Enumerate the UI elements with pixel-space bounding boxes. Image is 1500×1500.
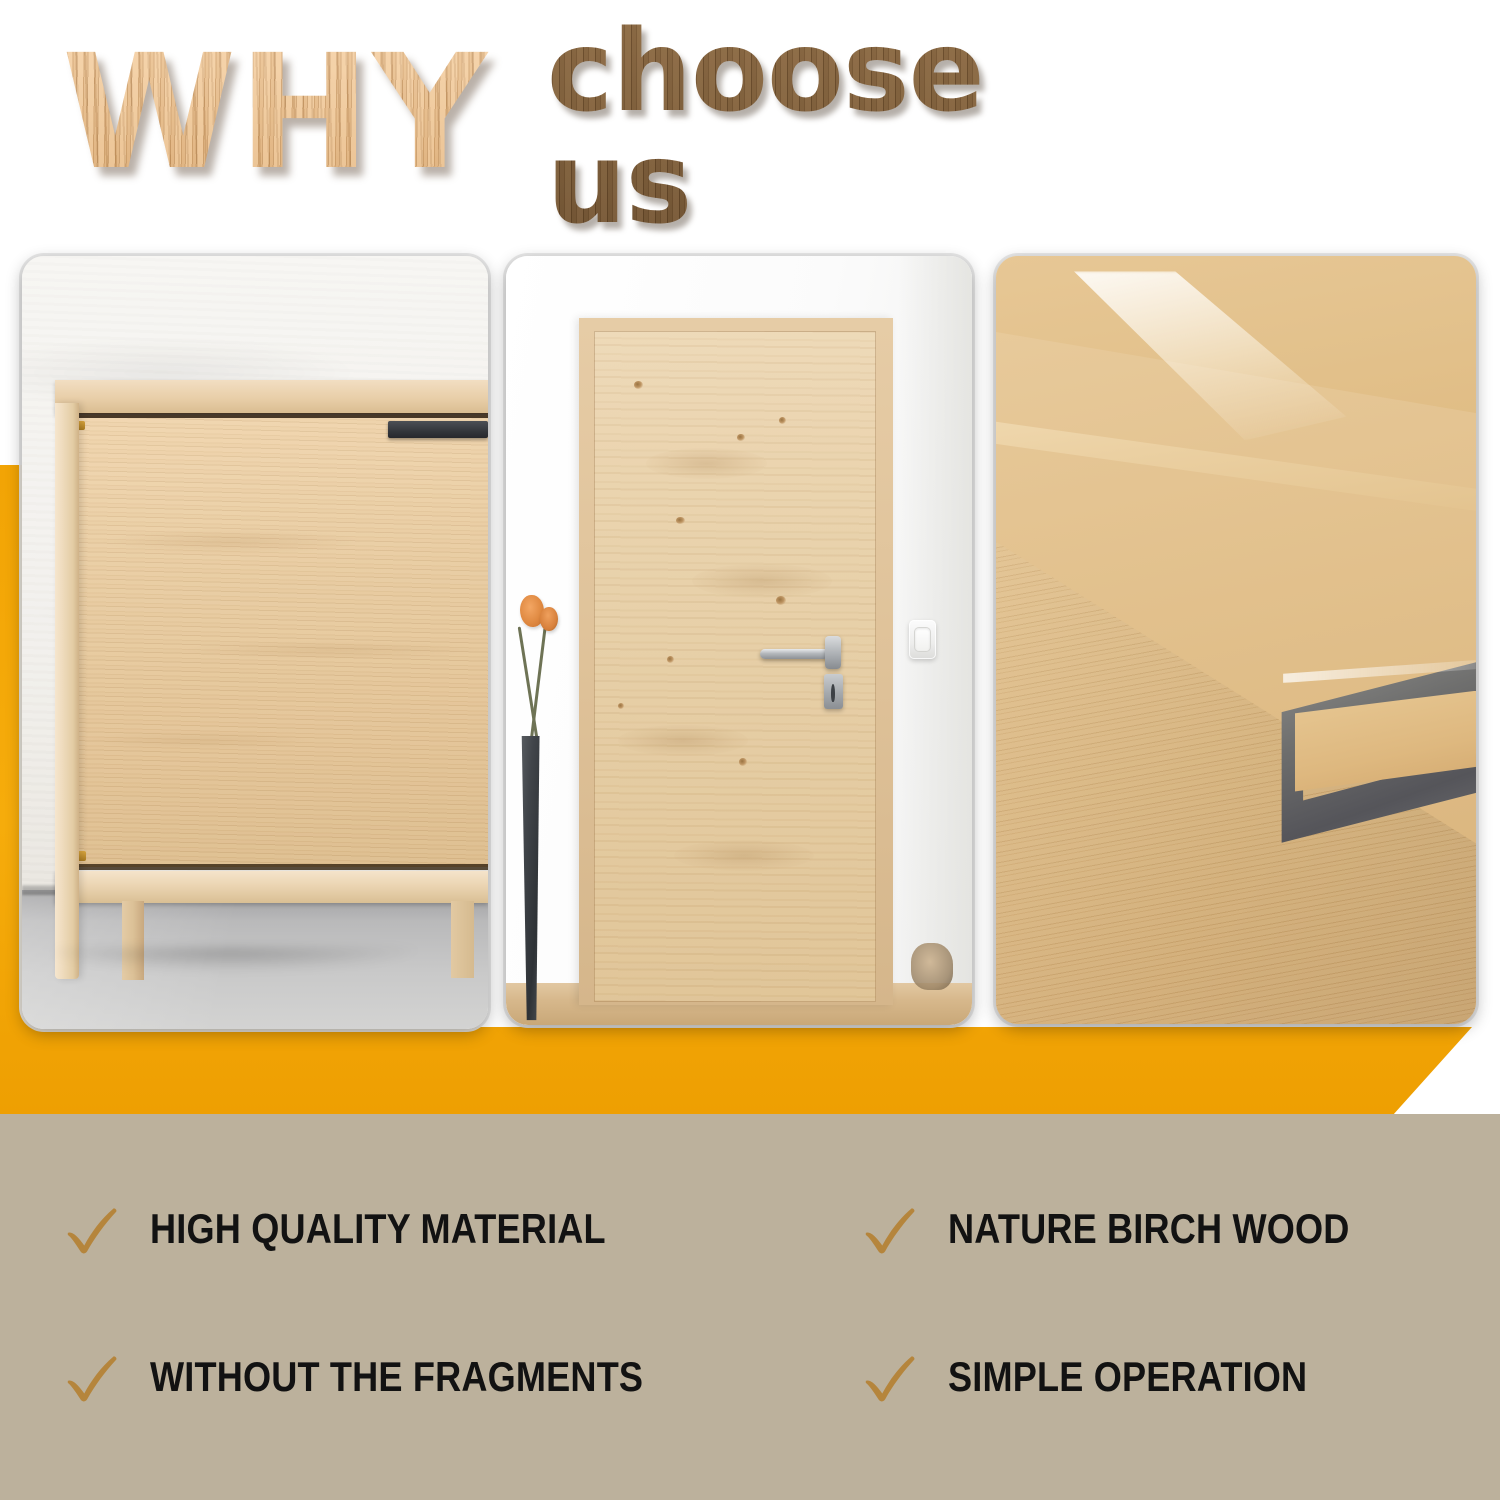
dried-flower	[540, 607, 558, 632]
check-icon	[860, 1346, 922, 1408]
photo-card-birch-sideboard-cabinet[interactable]	[22, 256, 488, 1029]
wood-grain-swirl	[692, 564, 832, 599]
photo-card-oak-interior-door[interactable]	[506, 256, 972, 1025]
photo-gallery	[0, 0, 1500, 1120]
check-icon	[62, 1346, 124, 1408]
check-icon	[62, 1198, 124, 1260]
door-handle-rose	[825, 636, 841, 669]
cabinet-bar-handle	[388, 421, 488, 438]
photo-card-drawer-handle-closeup[interactable]	[996, 256, 1476, 1024]
wood-knot	[667, 656, 674, 663]
cabinet-floor-shadow	[55, 948, 488, 979]
wood-knot	[737, 434, 745, 442]
feature-label: HIGH QUALITY MATERIAL	[150, 1205, 606, 1253]
floor-object	[911, 943, 953, 991]
feature-item: HIGH QUALITY MATERIAL	[62, 1198, 680, 1260]
cabinet-leg-left	[55, 403, 79, 979]
cabinet-door-bottom-gap	[74, 864, 488, 870]
feature-list: HIGH QUALITY MATERIAL NATURE BIRCH WOOD …	[0, 1114, 1500, 1500]
birch-sideboard-cabinet-image	[22, 256, 488, 1029]
drawer-handle-closeup-image	[996, 256, 1476, 1024]
oak-interior-door-image	[506, 256, 972, 1025]
cabinet-top-panel	[55, 380, 488, 414]
wood-grain-swirl	[674, 840, 814, 871]
feature-label: SIMPLE OPERATION	[948, 1353, 1307, 1401]
light-switch-rocker	[915, 628, 930, 651]
feature-item: NATURE BIRCH WOOD	[860, 1198, 1415, 1260]
feature-label: NATURE BIRCH WOOD	[948, 1205, 1350, 1253]
why-choose-us-poster: WHY choose us	[0, 0, 1500, 1500]
keyhole-icon	[831, 684, 835, 702]
check-icon	[860, 1198, 922, 1260]
cabinet-door-grain	[74, 415, 488, 867]
feature-item: WITHOUT THE FRAGMENTS	[62, 1346, 723, 1408]
feature-label: WITHOUT THE FRAGMENTS	[150, 1353, 643, 1401]
wood-knot	[739, 758, 747, 766]
feature-item: SIMPLE OPERATION	[860, 1346, 1366, 1408]
door-lever-handle	[760, 649, 830, 659]
cabinet-door-top-gap	[74, 413, 488, 418]
wood-grain-swirl	[618, 725, 748, 756]
wood-grain-swirl	[646, 448, 767, 479]
cabinet-bottom-rail	[55, 871, 488, 903]
wood-knot	[779, 417, 786, 424]
